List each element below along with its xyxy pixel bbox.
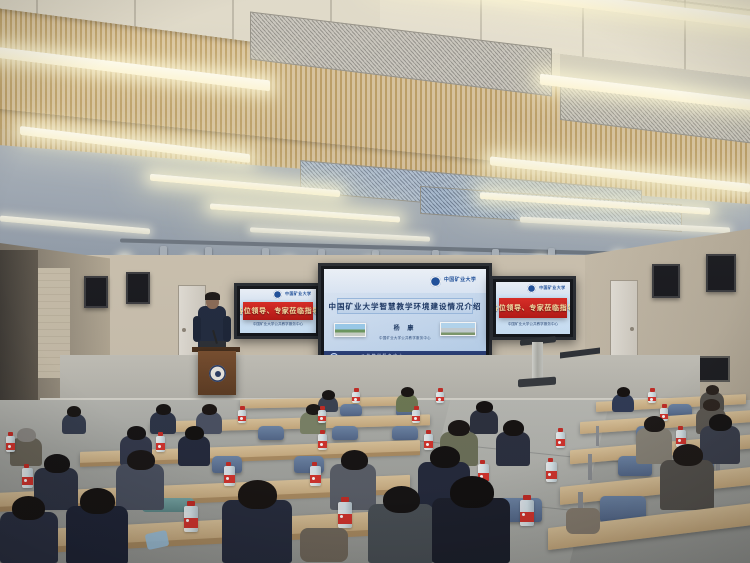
desk-leg [588, 454, 592, 480]
left-banner-text: 欢迎各位领导、专家莅临指导工作 [240, 306, 316, 316]
attendee-hair [383, 486, 420, 513]
wall-speaker-right-2 [706, 254, 736, 292]
water-bottle[interactable] [6, 436, 15, 452]
chair[interactable] [340, 404, 362, 416]
wall-speaker-right-1 [652, 264, 680, 298]
water-bottle[interactable] [224, 466, 235, 486]
attendee-hair [322, 390, 335, 400]
attendee-hair [703, 399, 720, 411]
university-seal-icon [527, 284, 536, 293]
attendee [470, 410, 498, 434]
attendee-hair [80, 488, 115, 514]
chair[interactable] [392, 426, 418, 440]
chair[interactable] [332, 426, 358, 440]
attendee [636, 428, 672, 464]
university-logo-right: 中国矿业大学 [527, 284, 565, 293]
right-banner-text: 欢迎各位领导、专家莅临指导工作 [496, 303, 570, 313]
water-bottle[interactable] [556, 432, 565, 448]
center-slide: 中国矿业大学 中国矿业大学智慧教学环境建设情况介绍 杨 康 中国矿业大学公共教学… [324, 269, 486, 363]
attendee [150, 412, 176, 434]
attendee-hair [503, 420, 524, 436]
attendee-hair [617, 387, 630, 397]
attendee-hair [430, 446, 460, 468]
water-bottle[interactable] [436, 392, 444, 403]
wall-speaker-left-2 [126, 272, 150, 304]
attendee-hair [12, 496, 45, 520]
attendee [700, 426, 740, 464]
attendee-hair [450, 476, 494, 508]
left-column [0, 250, 38, 410]
university-seal-icon [273, 290, 282, 299]
desk-leg [596, 426, 599, 446]
attendee [116, 464, 164, 510]
presenter-hair [205, 292, 220, 300]
attendee-hair [476, 401, 493, 413]
attendee-hair [127, 426, 146, 440]
attendee-hair [238, 480, 277, 509]
water-bottle[interactable] [22, 468, 33, 488]
attendee [330, 464, 376, 510]
attendee-hair [185, 426, 204, 440]
attendee [222, 500, 292, 563]
university-seal-icon [430, 276, 441, 287]
door-handle-left[interactable] [182, 328, 186, 332]
presenter-arm-left [193, 316, 201, 342]
left-slide: 中国矿业大学 欢迎各位领导、专家莅临指导工作 中国矿业大学公共教学服务中心 [240, 289, 316, 333]
water-bottle[interactable] [412, 410, 420, 423]
center-slide-header: 中国矿业大学 [324, 269, 486, 293]
university-logo-left: 中国矿业大学 [273, 290, 311, 299]
attendee-hair [341, 450, 368, 470]
water-bottle[interactable] [318, 434, 327, 450]
water-bottle[interactable] [156, 436, 165, 452]
water-bottle[interactable] [648, 392, 656, 403]
water-bottle[interactable] [424, 434, 433, 450]
attendee-hair [448, 420, 470, 436]
attendee-hair [17, 428, 36, 442]
attendee-hair [202, 404, 217, 415]
speaker-affiliation: 中国矿业大学公共教学服务中心 [324, 335, 486, 340]
water-bottle[interactable] [546, 462, 557, 482]
right-slide: 中国矿业大学 欢迎各位领导、专家莅临指导工作 中国矿业大学公共教学服务中心 [496, 282, 570, 334]
chair[interactable] [258, 426, 284, 440]
attendee-hair [44, 454, 70, 473]
wall-speaker-left-1 [84, 276, 108, 308]
attendee [66, 506, 128, 563]
right-welcome-banner: 欢迎各位领导、专家莅临指导工作 [499, 298, 567, 319]
shoulder-bag [300, 528, 348, 562]
podium-emblem-icon [209, 365, 226, 382]
water-bottle[interactable] [184, 506, 198, 532]
attendee-hair [706, 385, 719, 395]
university-logo-text-left: 中国矿业大学 [285, 292, 311, 297]
attendee-hair [673, 444, 703, 466]
podium [198, 351, 236, 395]
water-bottle[interactable] [352, 392, 360, 403]
center-slide-title: 中国矿业大学智慧教学环境建设情况介绍 [329, 301, 482, 312]
speaker-name: 杨 康 [324, 323, 486, 332]
left-welcome-banner: 欢迎各位领导、专家莅临指导工作 [243, 302, 313, 320]
university-logo-center: 中国矿业大学 [430, 276, 476, 287]
water-bottle[interactable] [238, 410, 246, 423]
left-slide-subtitle: 中国矿业大学公共教学服务中心 [240, 322, 316, 327]
water-bottle[interactable] [520, 500, 534, 526]
water-bottle[interactable] [318, 410, 326, 423]
attendee-hair [709, 414, 732, 431]
attendee-hair [401, 387, 414, 397]
center-slide-speaker-block: 杨 康 中国矿业大学公共教学服务中心 [324, 323, 486, 340]
attendee [178, 436, 210, 466]
university-logo-text-right: 中国矿业大学 [539, 286, 565, 291]
water-bottle[interactable] [338, 502, 352, 528]
university-logo-text-center: 中国矿业大学 [444, 278, 476, 284]
center-display[interactable]: 中国矿业大学 中国矿业大学智慧教学环境建设情况介绍 杨 康 中国矿业大学公共教学… [318, 263, 492, 369]
attendee [62, 414, 86, 434]
attendee [496, 432, 530, 466]
attendee-hair [67, 406, 81, 417]
right-slide-subtitle: 中国矿业大学公共教学服务中心 [496, 322, 570, 327]
center-slide-title-bar: 中国矿业大学智慧教学环境建设情况介绍 [337, 298, 473, 314]
left-slide-header: 中国矿业大学 [240, 289, 316, 300]
attendee-hair [156, 404, 171, 415]
water-bottle[interactable] [310, 466, 321, 486]
attendee [660, 460, 714, 510]
left-display[interactable]: 中国矿业大学 欢迎各位领导、专家莅临指导工作 中国矿业大学公共教学服务中心 [234, 283, 322, 339]
right-display[interactable]: 中国矿业大学 欢迎各位领导、专家莅临指导工作 中国矿业大学公共教学服务中心 [490, 276, 576, 340]
door-handle-right[interactable] [630, 327, 634, 331]
attendee-hair [127, 450, 155, 470]
presenter-arm-right [223, 316, 231, 342]
av-cart-post [532, 342, 543, 380]
handbag [566, 508, 600, 534]
attendee-hair [644, 416, 665, 432]
right-slide-header: 中国矿业大学 [496, 282, 570, 294]
lecture-hall-photo: 中国矿业大学 欢迎各位领导、专家莅临指导工作 中国矿业大学公共教学服务中心 中国… [0, 0, 750, 563]
